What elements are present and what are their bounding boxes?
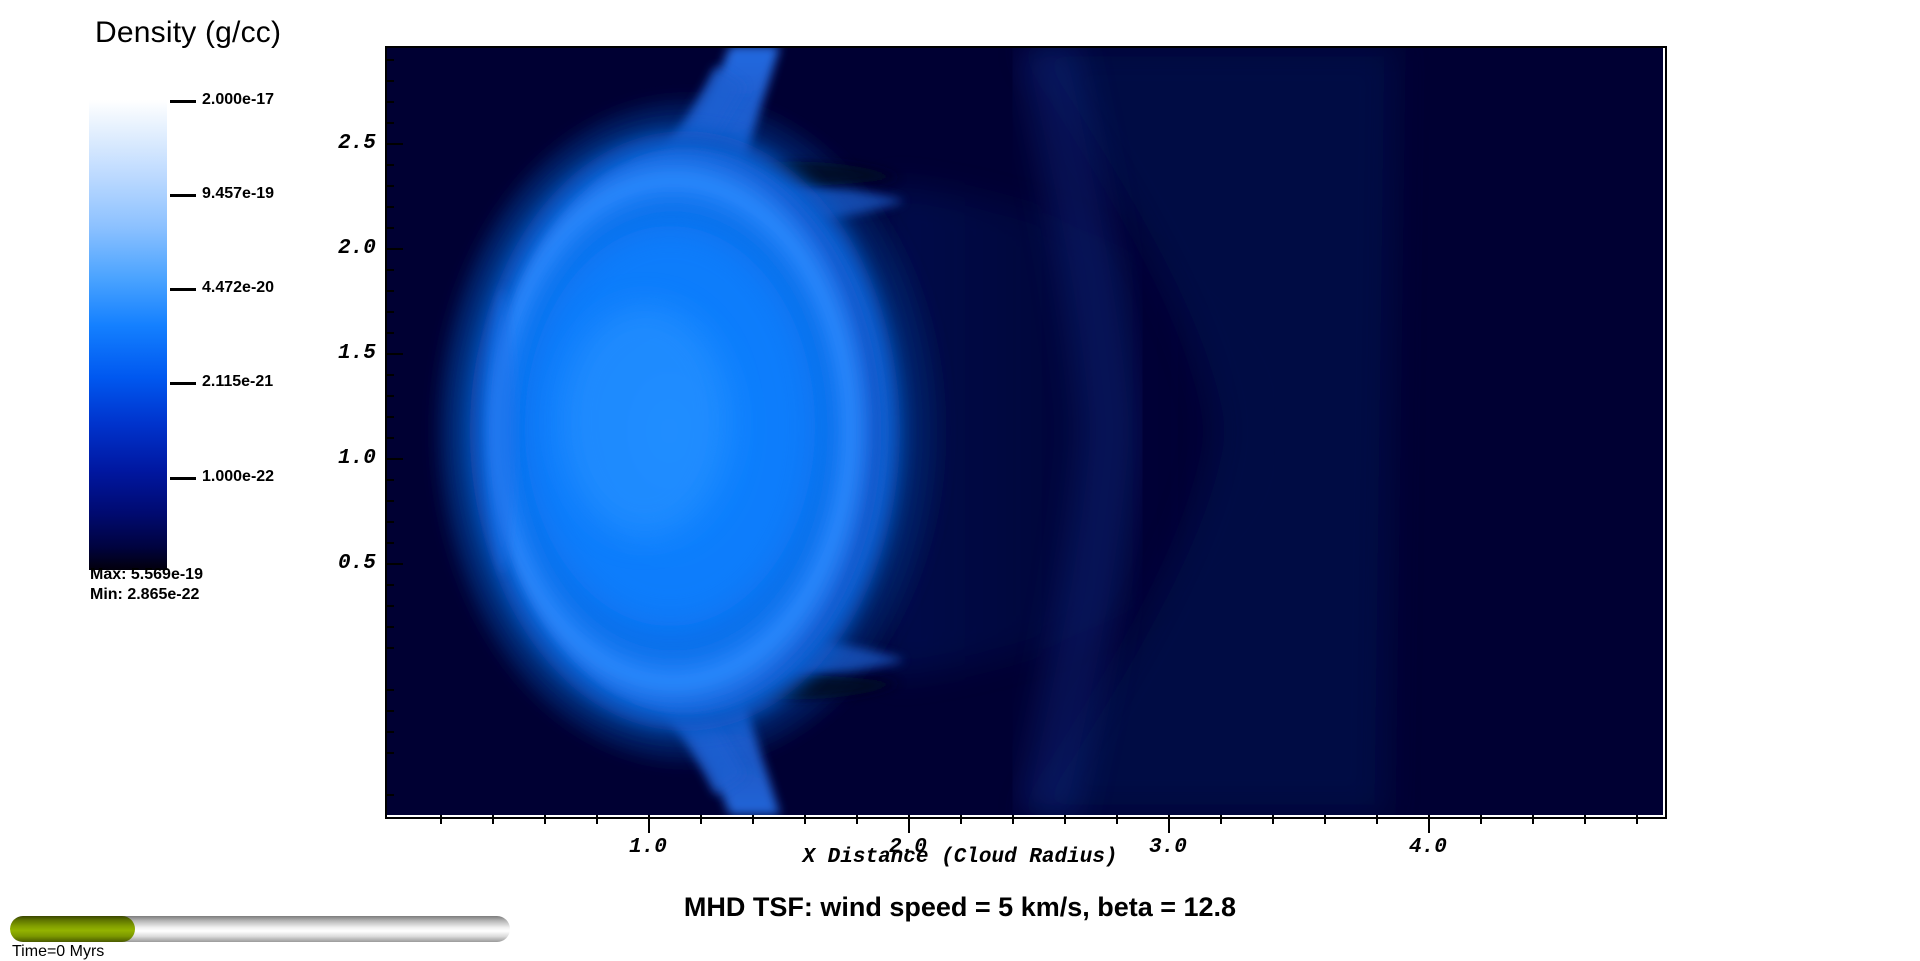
colorbar-title: Density (g/cc): [95, 16, 281, 50]
y-major-tick-2-0: [385, 248, 403, 250]
x-major-tick-4-0: [1428, 815, 1430, 833]
time-slider-fill: [10, 916, 135, 942]
y-tick-label-2-0: 2.0: [338, 237, 376, 260]
x-minor-tick: [752, 815, 754, 824]
y-tick-label-0-5: 0.5: [338, 552, 376, 575]
y-minor-tick: [385, 101, 394, 103]
colorbar-tick-label-1: 9.457e-19: [202, 185, 274, 203]
x-minor-tick: [1324, 815, 1326, 824]
x-minor-tick: [960, 815, 962, 824]
x-minor-tick: [700, 815, 702, 824]
y-minor-tick: [385, 752, 394, 754]
colorbar-tick-mark-1: [170, 194, 196, 197]
y-minor-tick: [385, 395, 394, 397]
y-minor-tick: [385, 479, 394, 481]
colorbar-tick-label-4: 1.000e-22: [202, 468, 274, 486]
x-major-tick-1-0: [648, 815, 650, 833]
y-minor-tick: [385, 269, 394, 271]
density-colorbar-legend: Density (g/cc) 2.000e-17 9.457e-19 4.472…: [0, 0, 380, 620]
y-major-tick-1-5: [385, 353, 403, 355]
y-minor-tick: [385, 80, 394, 82]
colorbar-tick-mark-0: [170, 100, 196, 103]
x-minor-tick: [1064, 815, 1066, 824]
x-minor-tick: [856, 815, 858, 824]
y-minor-tick: [385, 206, 394, 208]
y-minor-tick: [385, 374, 394, 376]
x-minor-tick: [804, 815, 806, 824]
y-minor-tick: [385, 227, 394, 229]
y-minor-tick: [385, 164, 394, 166]
x-minor-tick: [596, 815, 598, 824]
x-minor-tick: [1636, 815, 1638, 824]
x-minor-tick: [1012, 815, 1014, 824]
simulation-plot-area: [385, 46, 1663, 815]
y-tick-label-1-5: 1.5: [338, 342, 376, 365]
y-minor-tick: [385, 500, 394, 502]
colorbar-tick-label-2: 4.472e-20: [202, 279, 274, 297]
x-minor-tick: [1376, 815, 1378, 824]
x-minor-tick: [492, 815, 494, 824]
colorbar-max-value: Max: 5.569e-19: [90, 566, 203, 584]
x-minor-tick: [1116, 815, 1118, 824]
y-minor-tick: [385, 416, 394, 418]
y-minor-tick: [385, 605, 394, 607]
x-minor-tick: [440, 815, 442, 824]
y-minor-tick: [385, 290, 394, 292]
time-slider-label: Time=0 Myrs: [12, 943, 104, 961]
x-minor-tick: [1532, 815, 1534, 824]
x-major-tick-3-0: [1168, 815, 1170, 833]
x-minor-tick: [1272, 815, 1274, 824]
colorbar-tick-label-3: 2.115e-21: [202, 373, 273, 391]
y-minor-tick: [385, 794, 394, 796]
y-minor-tick: [385, 689, 394, 691]
y-minor-tick: [385, 122, 394, 124]
y-tick-label-2-5: 2.5: [338, 132, 376, 155]
colorbar-min-value: Min: 2.865e-22: [90, 586, 199, 604]
y-minor-tick: [385, 542, 394, 544]
y-major-tick-1-0: [385, 458, 403, 460]
y-major-tick-0-5: [385, 563, 403, 565]
colorbar-gradient: [89, 100, 167, 570]
y-minor-tick: [385, 185, 394, 187]
y-minor-tick: [385, 584, 394, 586]
y-tick-label-1-0: 1.0: [338, 447, 376, 470]
y-minor-tick: [385, 731, 394, 733]
colorbar-tick-mark-2: [170, 288, 196, 291]
x-minor-tick: [1220, 815, 1222, 824]
y-major-tick-2-5: [385, 143, 403, 145]
y-minor-tick: [385, 332, 394, 334]
y-minor-tick: [385, 311, 394, 313]
x-minor-tick: [544, 815, 546, 824]
y-minor-tick: [385, 59, 394, 61]
x-axis-title: X Distance (Cloud Radius): [0, 846, 1920, 869]
y-minor-tick: [385, 521, 394, 523]
y-minor-tick: [385, 647, 394, 649]
time-slider-track[interactable]: [10, 916, 510, 942]
time-slider[interactable]: Time=0 Myrs: [10, 916, 510, 958]
colorbar-tick-mark-3: [170, 382, 196, 385]
y-minor-tick: [385, 626, 394, 628]
x-major-tick-2-0: [908, 815, 910, 833]
colorbar-tick-label-0: 2.000e-17: [202, 91, 274, 109]
density-field-render: [385, 46, 1663, 815]
y-minor-tick: [385, 710, 394, 712]
y-minor-tick: [385, 437, 394, 439]
colorbar-tick-mark-4: [170, 477, 196, 480]
x-minor-tick: [1480, 815, 1482, 824]
x-minor-tick: [1584, 815, 1586, 824]
